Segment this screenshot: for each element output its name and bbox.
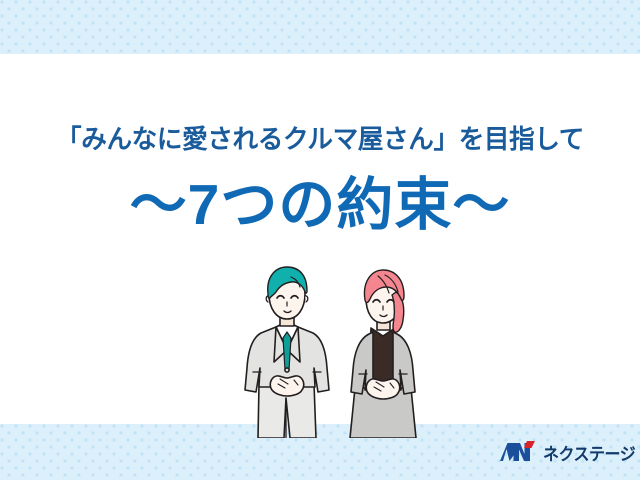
headline-row: ～7つの約束～ <box>0 176 640 236</box>
top-dot-band <box>0 0 640 54</box>
two-staff-bowing-illustration <box>236 266 436 438</box>
female-staff-figure <box>350 270 416 438</box>
brand-logo: ネクステージ <box>500 439 628 469</box>
banner-subtitle: 「みんなに愛されるクルマ屋さん」を目指して <box>56 126 584 153</box>
nextage-n-logo-icon <box>500 440 536 469</box>
brand-logo-text: ネクステージ <box>543 446 635 463</box>
banner-headline: ～7つの約束～ <box>130 176 511 236</box>
male-staff-figure <box>245 267 329 438</box>
promo-banner: 「みんなに愛されるクルマ屋さん」を目指して ～7つの約束～ <box>0 0 640 480</box>
subtitle-row: 「みんなに愛されるクルマ屋さん」を目指して <box>0 126 640 153</box>
